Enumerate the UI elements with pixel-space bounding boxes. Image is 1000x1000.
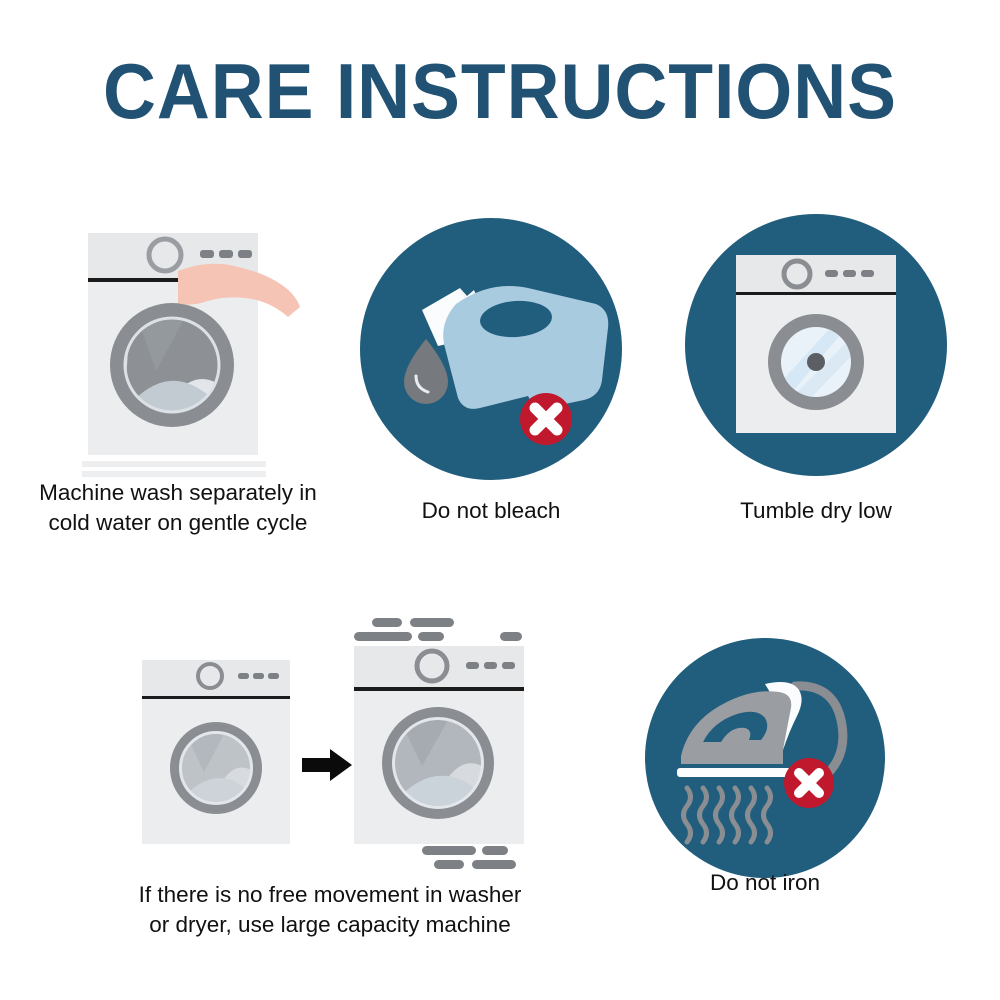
icon-do-not-iron: [645, 638, 885, 878]
motion-dashes-top: [354, 618, 522, 641]
washing-machine-hand-icon: [60, 215, 330, 480]
bleach-bottle-prohibited-icon: [360, 218, 622, 480]
dryer-center-dot: [807, 353, 825, 371]
page-title: CARE INSTRUCTIONS: [30, 52, 970, 130]
small-to-large-washer-arrow-icon: [120, 608, 540, 870]
prohibition-x-icon: [784, 758, 834, 808]
care-instructions-infographic: CARE INSTRUCTIONS: [0, 0, 1000, 1000]
caption-tumble-dry-low: Tumble dry low: [682, 496, 950, 526]
steam-iron-prohibited-icon: [645, 638, 885, 878]
icon-do-not-bleach: [360, 218, 622, 480]
icon-large-capacity: [120, 608, 540, 870]
caption-do-not-iron: Do not iron: [630, 868, 900, 898]
prohibition-x-icon: [520, 393, 572, 445]
icon-machine-wash: [60, 215, 330, 480]
tumble-dryer-icon: [685, 214, 947, 476]
caption-do-not-bleach: Do not bleach: [358, 496, 624, 526]
caption-large-capacity: If there is no free movement in washer o…: [90, 880, 570, 940]
large-washer-icon: [354, 646, 524, 844]
caption-machine-wash: Machine wash separately in cold water on…: [0, 478, 356, 538]
right-arrow-icon: [302, 749, 352, 781]
iron-soleplate-icon: [677, 768, 791, 777]
motion-dashes-bottom: [422, 846, 516, 869]
small-washer-icon: [142, 660, 290, 844]
icon-tumble-dry-low: [685, 214, 947, 476]
